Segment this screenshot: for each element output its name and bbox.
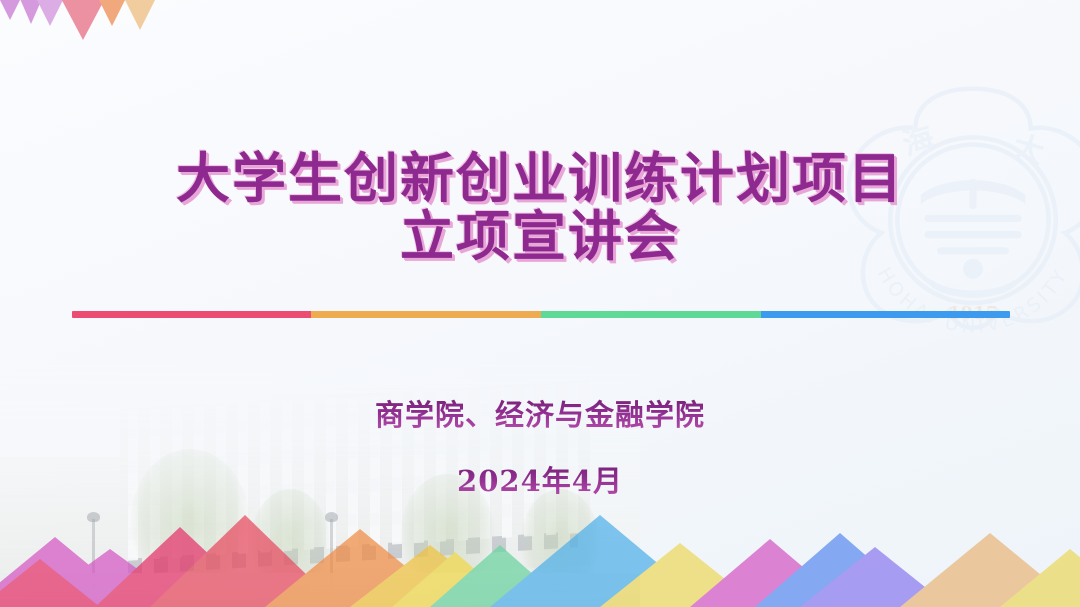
bottom-triangle-decor — [0, 497, 1080, 607]
subtitle: 商学院、经济与金融学院 2024年4月 — [0, 392, 1080, 500]
title-line-1: 大学生创新创业训练计划项目 — [0, 150, 1080, 208]
page-title: 大学生创新创业训练计划项目 立项宣讲会 — [0, 150, 1080, 267]
date-label: 2024年4月 — [0, 458, 1080, 500]
color-divider — [72, 311, 1010, 318]
divider-segment-blue — [761, 311, 1010, 318]
organization-label: 商学院、经济与金融学院 — [0, 392, 1080, 434]
title-line-2: 立项宣讲会 — [0, 208, 1080, 266]
presentation-slide: 海 大 1915 HOHAI UNIVERSITY — [0, 0, 1080, 607]
divider-segment-orange — [311, 311, 541, 318]
top-left-triangle-decor — [0, 0, 380, 42]
divider-segment-green — [541, 311, 761, 318]
divider-segment-pink — [72, 311, 311, 318]
